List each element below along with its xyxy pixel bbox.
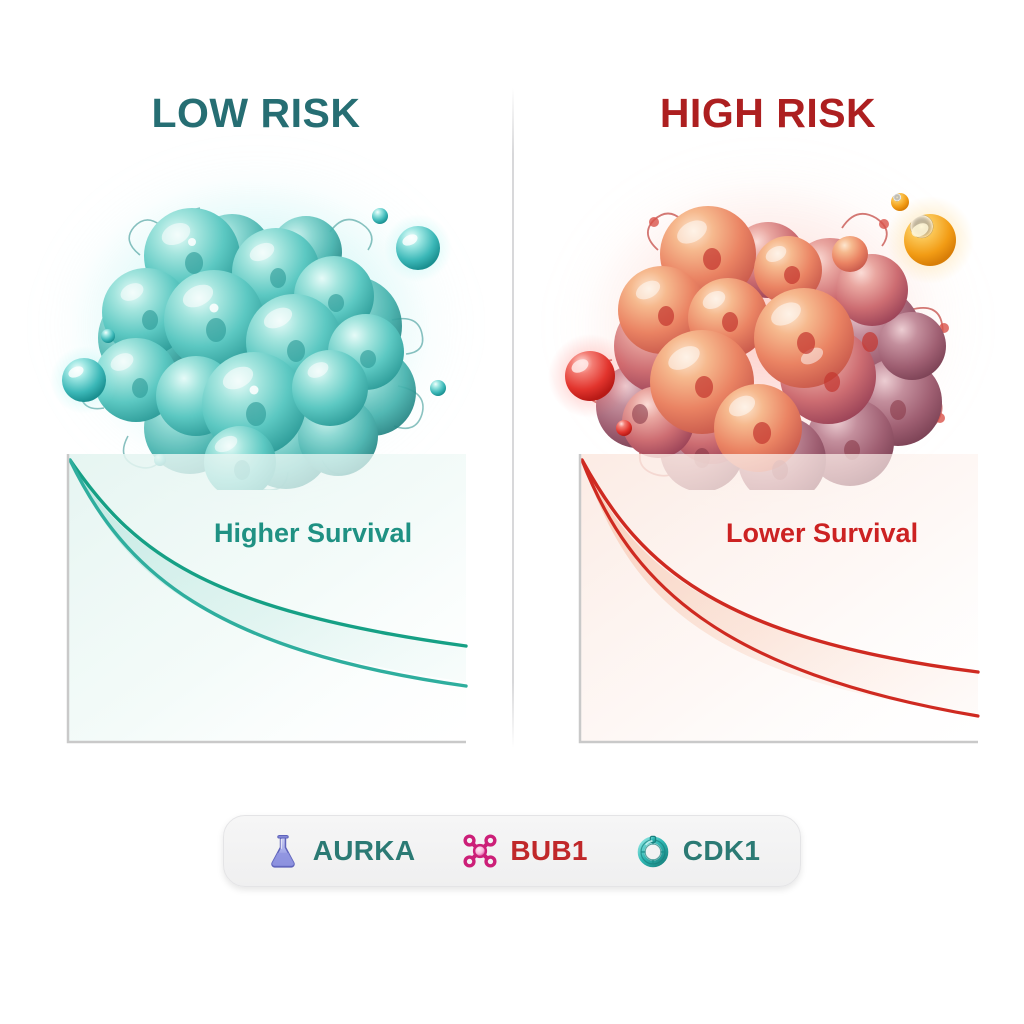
legend-item-aurka[interactable]: AURKA bbox=[264, 832, 416, 870]
tumour-cluster-low-risk bbox=[0, 160, 512, 490]
molecule-icon bbox=[461, 832, 499, 870]
legend-label-aurka: AURKA bbox=[313, 837, 416, 865]
flask-icon bbox=[264, 832, 302, 870]
tumour-cluster-high-risk bbox=[512, 160, 1024, 490]
survival-curves-teal bbox=[62, 450, 472, 750]
cluster-illustration-red bbox=[512, 160, 1024, 490]
survival-chart-low-risk: Higher Survival bbox=[62, 450, 472, 750]
survival-label-low-risk: Higher Survival bbox=[214, 520, 412, 547]
panel-low-risk: LOW RISK bbox=[0, 0, 512, 790]
panel-title-high-risk: HIGH RISK bbox=[512, 93, 1024, 134]
panel-high-risk: HIGH RISK bbox=[512, 0, 1024, 790]
protein-ring-icon bbox=[634, 832, 672, 870]
survival-label-high-risk: Lower Survival bbox=[726, 520, 918, 547]
legend-item-bub1[interactable]: BUB1 bbox=[461, 832, 587, 870]
figure-canvas: LOW RISK bbox=[0, 0, 1024, 1024]
legend-item-cdk1[interactable]: CDK1 bbox=[634, 832, 760, 870]
panel-title-low-risk: LOW RISK bbox=[0, 93, 512, 134]
survival-chart-high-risk: Lower Survival bbox=[574, 450, 984, 750]
satellite-cell-gold bbox=[886, 193, 974, 284]
legend-label-cdk1: CDK1 bbox=[683, 837, 760, 865]
survival-curves-red bbox=[574, 450, 984, 750]
cluster-illustration-teal bbox=[0, 160, 512, 490]
gene-legend: AURKA bbox=[223, 815, 801, 887]
legend-label-bub1: BUB1 bbox=[510, 837, 587, 865]
